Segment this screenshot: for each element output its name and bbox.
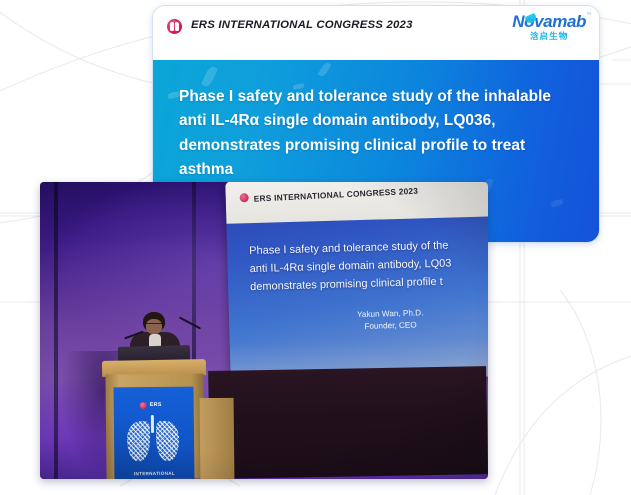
projected-slide-title: Phase I safety and tolerance study of th…: [249, 235, 488, 297]
novamab-wordmark-text: Novamab: [512, 12, 586, 31]
projected-congress-title: ERS INTERNATIONAL CONGRESS 2023: [253, 186, 418, 204]
lectern-logo-text: ERS: [150, 402, 162, 408]
lectern-side-block: [200, 398, 235, 479]
novamab-wordmark: Novamab ™: [512, 13, 586, 30]
lungs-icon: [127, 421, 150, 461]
conference-presentation-photo: ERS INTERNATIONAL CONGRESS 2023 Phase I …: [40, 182, 488, 479]
slide-title-line-1: Phase I safety and tolerance study of th…: [179, 85, 573, 109]
ers-lung-circle-icon: [167, 19, 182, 34]
glasses-icon: [145, 323, 163, 327]
foreground-dark-band: [208, 366, 488, 479]
slide-title: Phase I safety and tolerance study of th…: [179, 85, 573, 182]
leaf-decoration-3: [318, 61, 332, 77]
slide-title-line-3: demonstrates promising clinical profile …: [179, 134, 573, 183]
trademark-symbol: ™: [586, 13, 591, 18]
projected-author-block: Yakun Wan, Ph.D. Founder, CEO: [357, 307, 424, 333]
novamab-logo: Novamab ™ 浛启生物: [512, 13, 586, 41]
congress-title: ERS INTERNATIONAL CONGRESS 2023: [191, 19, 413, 31]
novamab-chinese-name: 浛启生物: [512, 32, 586, 41]
slide-header: ERS INTERNATIONAL CONGRESS 2023 Novamab …: [153, 6, 599, 60]
lungs-icon-right: [156, 421, 179, 461]
ers-lung-circle-icon: [140, 402, 147, 409]
leaf-decoration-6: [551, 199, 564, 207]
screenshot-root: ERS INTERNATIONAL CONGRESS 2023 Novamab …: [0, 0, 631, 495]
lectern-branding-panel: ERS INTERNATIONAL: [114, 387, 195, 479]
ers-lung-circle-icon: [240, 193, 249, 202]
projected-slide-header: ERS INTERNATIONAL CONGRESS 2023: [225, 182, 488, 224]
projected-author-role: Founder, CEO: [357, 319, 424, 333]
trachea-icon: [151, 415, 154, 433]
slide-title-line-2: anti IL-4Rα single domain antibody, LQ03…: [179, 109, 573, 133]
lectern-caption: INTERNATIONAL: [114, 471, 194, 477]
projection-screen: ERS INTERNATIONAL CONGRESS 2023 Phase I …: [225, 182, 488, 384]
